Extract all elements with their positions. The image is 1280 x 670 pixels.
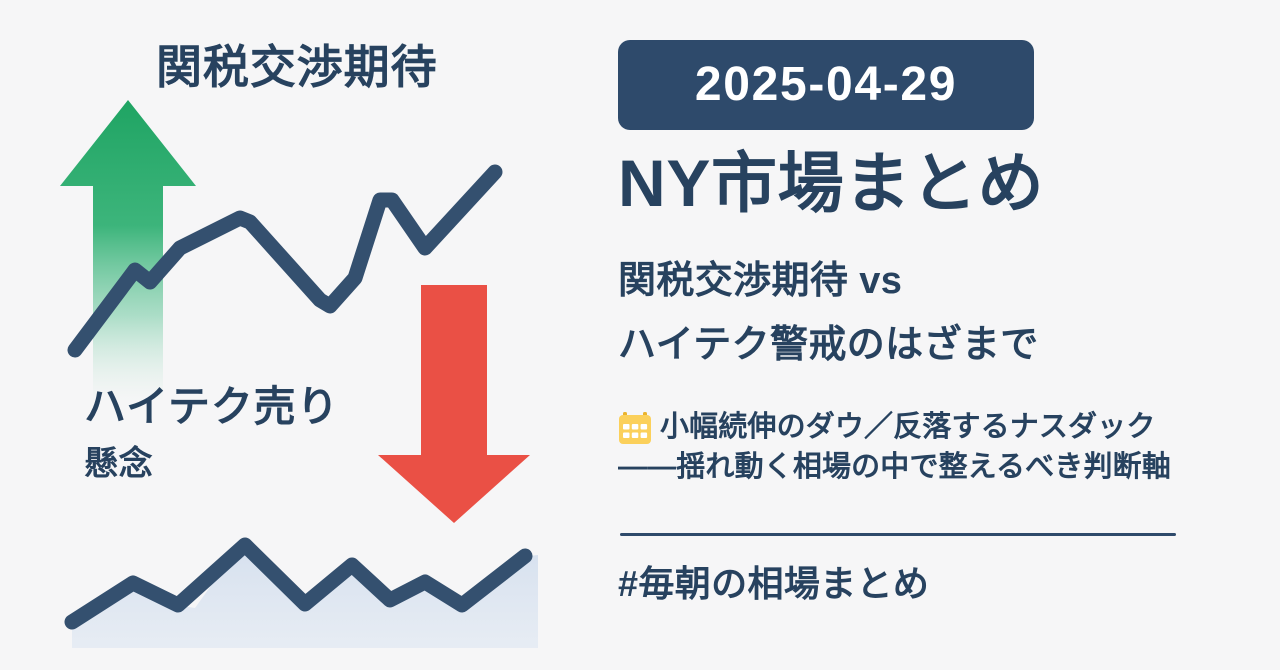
lead-text-secondary: ——揺れ動く相場の中で整えるべき判断軸 [618,451,1171,483]
content-panel: 2025-04-29 NY市場まとめ 関税交渉期待 vs ハイテク警戒のはざまで… [618,0,1258,670]
hashtag-label: #毎朝の相場まとめ [618,566,929,602]
lead-text-primary: 小幅続伸のダウ／反落するナスダック [660,408,1155,446]
subtitle-line-1: 関税交渉期待 vs [618,262,902,300]
date-badge-label: 2025-04-29 [695,61,957,109]
page-title: NY市場まとめ [618,148,1044,219]
lead-row-secondary: ——揺れ動く相場の中で整えるべき判断軸 [618,448,1268,486]
illustration-graphics [0,0,600,670]
volatile-area-chart-icon [72,545,538,648]
label-hitech-selloff: ハイテク売り [84,386,339,428]
red-down-arrow-icon [378,285,530,523]
label-tariff-expectation: 関税交渉期待 [156,44,438,90]
lead-block: 小幅続伸のダウ／反落するナスダック ——揺れ動く相場の中で整えるべき判断軸 [618,408,1268,487]
calendar-icon [618,411,652,445]
illustration-panel: 関税交渉期待 ハイテク売り 懸念 [0,0,600,670]
poster-canvas: 関税交渉期待 ハイテク売り 懸念 2025-04-29 NY市場まとめ 関税交渉… [0,0,1280,670]
date-badge: 2025-04-29 [618,40,1034,130]
subtitle-line-2: ハイテク警戒のはざまで [618,326,1039,364]
divider [620,533,1176,536]
label-concern: 懸念 [84,447,153,481]
lead-row-primary: 小幅続伸のダウ／反落するナスダック [618,408,1268,446]
